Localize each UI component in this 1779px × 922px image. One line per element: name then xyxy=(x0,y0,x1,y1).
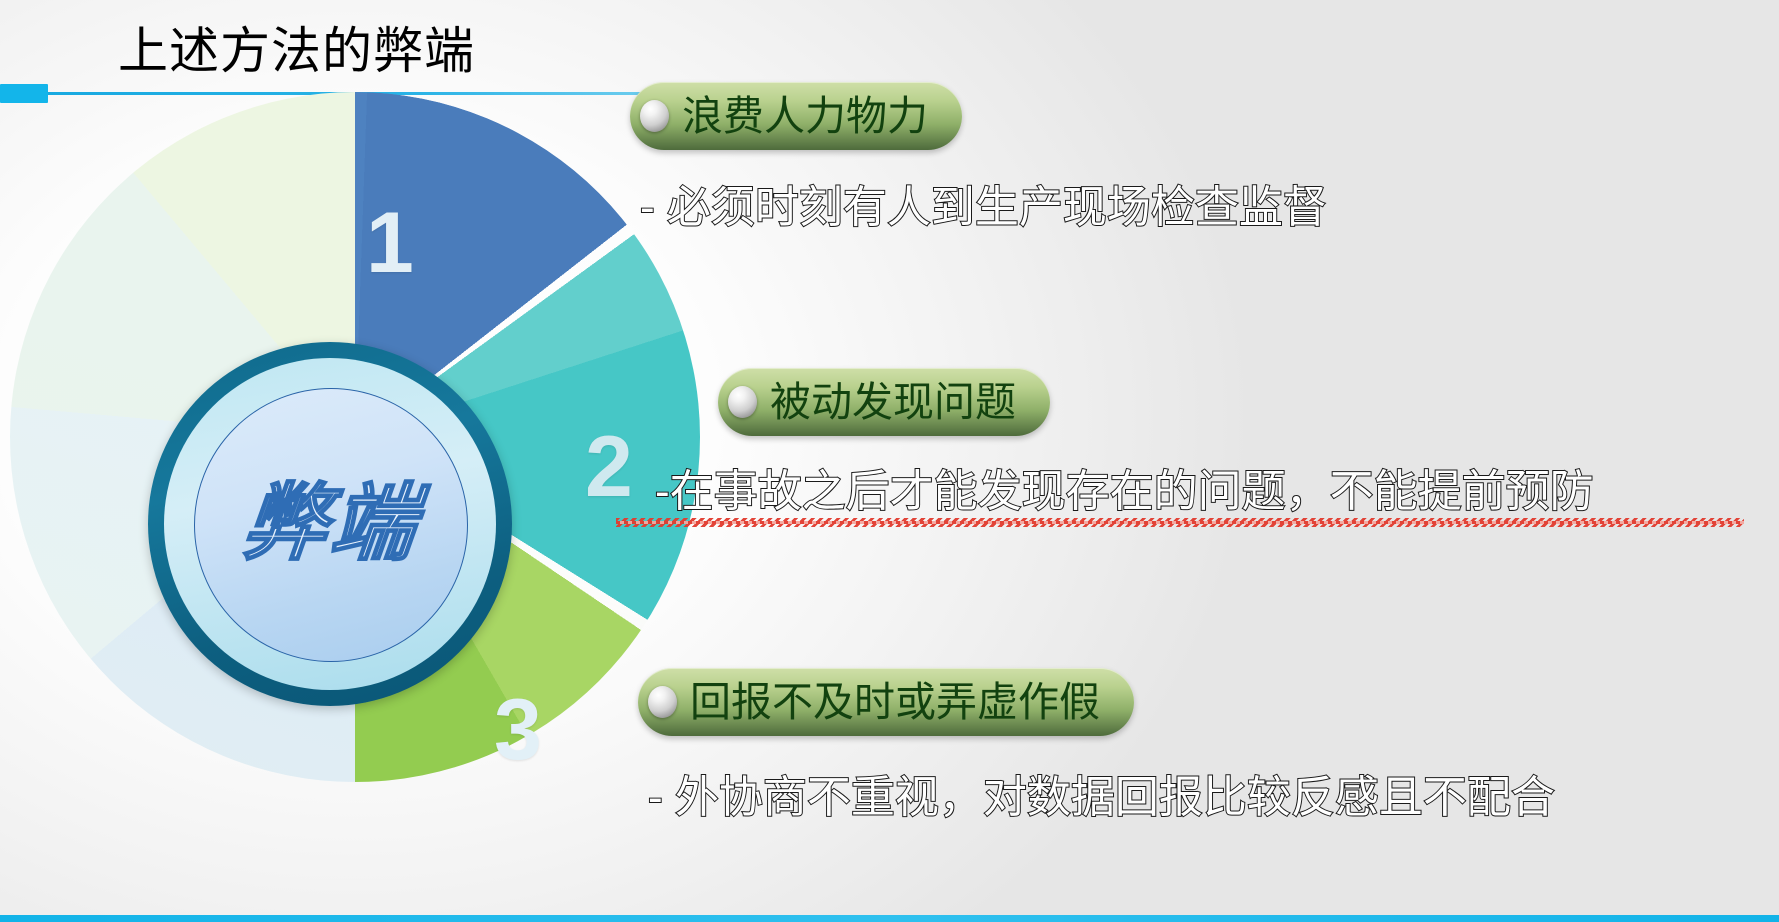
badge-label-2[interactable]: 被动发现问题 xyxy=(718,368,1050,436)
description-text-3: - 外协商不重视，对数据回报比较反感且不配合 xyxy=(648,774,1555,822)
spellcheck-wavy-underline xyxy=(616,518,1744,527)
badge-wrapper-2: 被动发现问题 xyxy=(718,368,1050,436)
diagram-center-ring: 弊端 xyxy=(148,342,512,706)
badge-wrapper-1: 浪费人力物力 xyxy=(630,82,962,150)
description-text-2: -在事故之后才能发现存在的问题，不能提前预防 xyxy=(655,468,1594,516)
sphere-bullet-icon xyxy=(640,100,669,132)
sphere-bullet-icon xyxy=(648,686,677,718)
badge-label-1[interactable]: 浪费人力物力 xyxy=(630,82,962,150)
badge-wrapper-3: 回报不及时或弄虚作假 xyxy=(638,668,1134,736)
page-title: 上述方法的弊端 xyxy=(118,22,475,80)
diagram-center-disc: 弊端 xyxy=(194,388,468,662)
description-text-1: - 必须时刻有人到生产现场检查监督 xyxy=(640,184,1327,232)
content-column: 浪费人力物力 - 必须时刻有人到生产现场检查监督 被动发现问题 -在事故之后才能… xyxy=(600,0,1779,922)
segment-number-3: 3 xyxy=(494,687,542,773)
diagram-center-label: 弊端 xyxy=(239,483,424,567)
bottom-accent-bar xyxy=(0,915,1779,922)
diagram-center-ring-inner: 弊端 xyxy=(164,358,496,690)
sphere-bullet-icon xyxy=(728,386,757,418)
cycle-diagram: 1 2 3 弊端 xyxy=(10,92,700,822)
badge-label-3[interactable]: 回报不及时或弄虚作假 xyxy=(638,668,1134,736)
segment-number-1: 1 xyxy=(366,200,414,286)
